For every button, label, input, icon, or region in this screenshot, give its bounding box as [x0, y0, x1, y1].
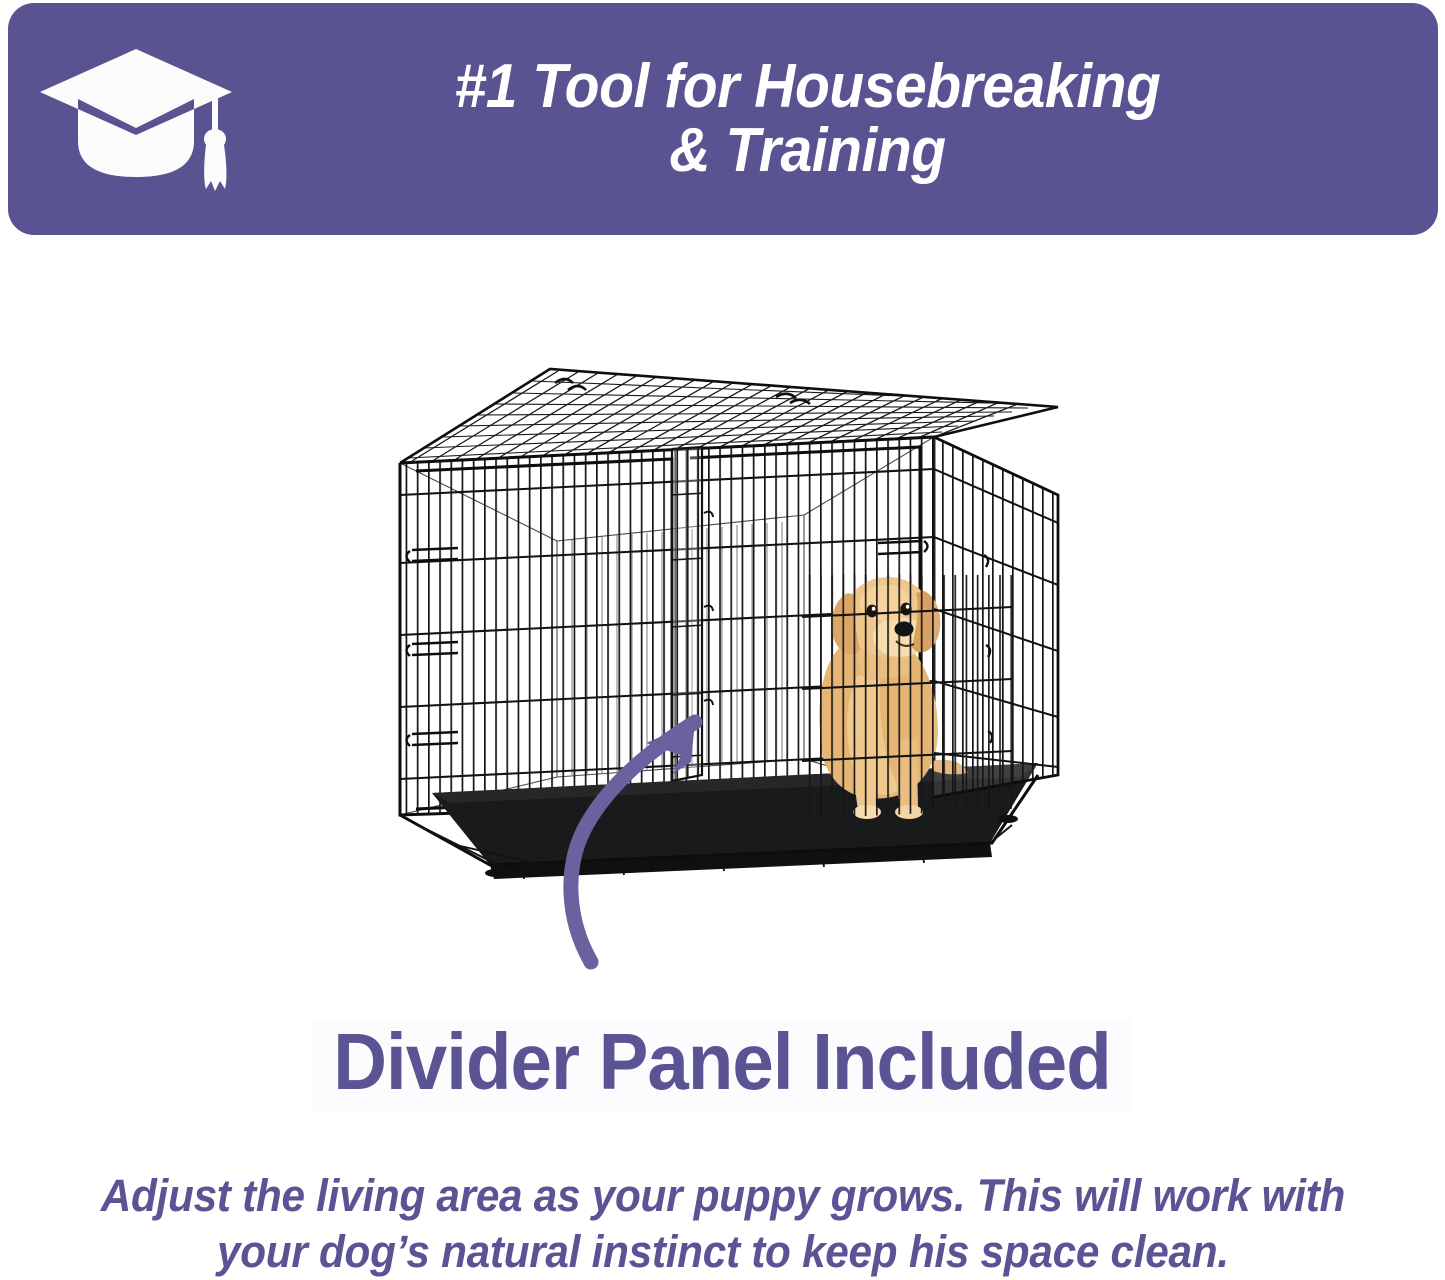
banner-title: #1 Tool for Housebreaking & Training	[303, 55, 1390, 183]
crate-front-bars-overlay	[802, 538, 1022, 819]
dog-crate-image	[372, 345, 1072, 910]
header-banner: #1 Tool for Housebreaking & Training	[8, 3, 1438, 235]
caption-text: Adjust the living area as your puppy gro…	[100, 1168, 1344, 1280]
product-image-stage	[0, 250, 1445, 1010]
graduation-cap-icon	[26, 24, 256, 214]
divider-panel-included-headline: Divider Panel Included	[313, 1018, 1131, 1112]
subhead-container: Divider Panel Included	[0, 1018, 1445, 1112]
caption-container: Adjust the living area as your puppy gro…	[0, 1168, 1445, 1280]
